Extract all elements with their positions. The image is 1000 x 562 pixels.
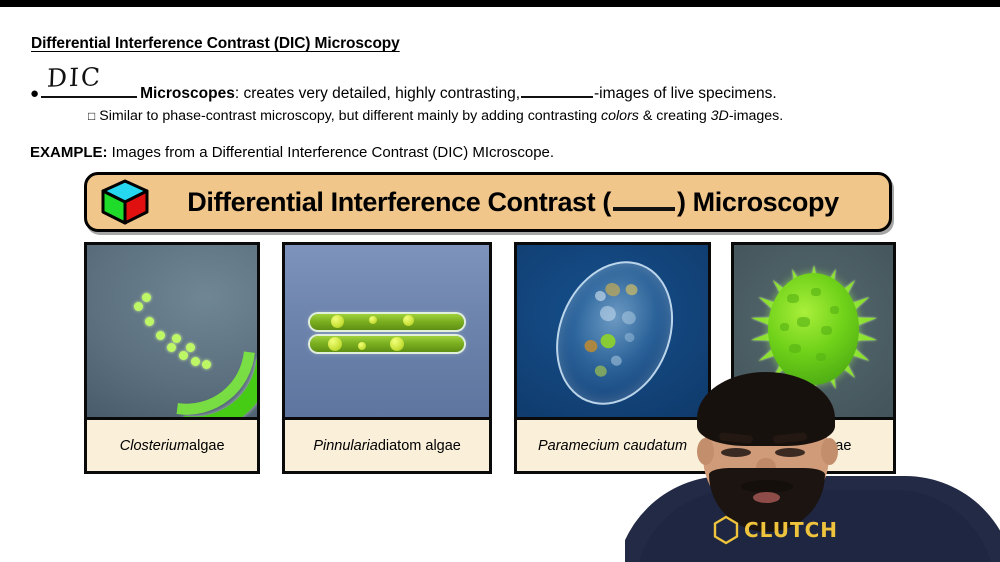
rgb-cube-icon — [99, 178, 151, 226]
banner-title-after: ) Microscopy — [677, 187, 839, 217]
mouth — [753, 492, 780, 503]
slide-root: Differential Interference Contrast (DIC)… — [0, 0, 1000, 562]
example-text: Images from a Differential Interference … — [108, 144, 555, 161]
caption-pinnularia: Pinnularia diatom algae — [285, 417, 489, 471]
panel-pinnularia[interactable]: Pinnularia diatom algae — [282, 242, 492, 474]
ear-left — [697, 438, 714, 465]
bullet-subpoint: □Similar to phase-contrast microscopy, b… — [88, 108, 783, 124]
eye-right — [775, 448, 805, 457]
figure-banner: Differential Interference Contrast () Mi… — [84, 172, 892, 232]
panel-closterium[interactable]: Closterium algae — [84, 242, 260, 474]
bullet-dot-icon: ● — [30, 86, 39, 101]
square-bullet-icon: □ — [88, 109, 95, 123]
caption-rest: algae — [189, 438, 224, 454]
bullet-inline-blank — [521, 83, 593, 98]
example-line: EXAMPLE: Images from a Differential Inte… — [30, 144, 554, 161]
caption-closterium: Closterium algae — [87, 417, 257, 471]
shirt-logo: CLUTCH — [713, 512, 845, 548]
hexagon-icon — [713, 515, 739, 545]
handwritten-blank: DIC — [41, 70, 137, 98]
handwriting-dic: DIC — [46, 62, 102, 92]
caption-genus: Closterium — [120, 438, 189, 454]
closterium-algae-micrograph — [87, 245, 257, 417]
shirt-logo-text: CLUTCH — [744, 520, 838, 540]
subpoint-italic-colors: colors — [601, 108, 639, 124]
example-label: EXAMPLE: — [30, 144, 108, 161]
banner-title-before: Differential Interference Contrast ( — [187, 187, 611, 217]
subpoint-part2: & creating — [639, 108, 711, 124]
top-black-bar — [0, 0, 1000, 7]
bullet-strong-label: Microscopes — [140, 85, 235, 103]
subpoint-part1: Similar to phase-contrast microscopy, bu… — [99, 108, 601, 124]
bullet-text-after: -images of live specimens. — [594, 85, 777, 103]
page-title: Differential Interference Contrast (DIC)… — [31, 35, 400, 53]
subpoint-part3: -images. — [729, 108, 783, 124]
ear-right — [821, 438, 838, 465]
pinnularia-diatom-micrograph — [285, 245, 489, 417]
subpoint-italic-3d: 3D — [711, 108, 729, 124]
banner-title: Differential Interference Contrast () Mi… — [151, 187, 889, 218]
caption-genus: Pinnularia — [313, 438, 378, 454]
instructor-video-overlay[interactable]: CLUTCH — [625, 372, 1000, 562]
bullet-text-before: : creates very detailed, highly contrast… — [235, 85, 520, 103]
eye-left — [721, 448, 751, 457]
banner-title-blank — [613, 188, 675, 211]
caption-rest: diatom algae — [378, 438, 461, 454]
bullet-main: ● DIC Microscopes : creates very detaile… — [30, 70, 777, 103]
